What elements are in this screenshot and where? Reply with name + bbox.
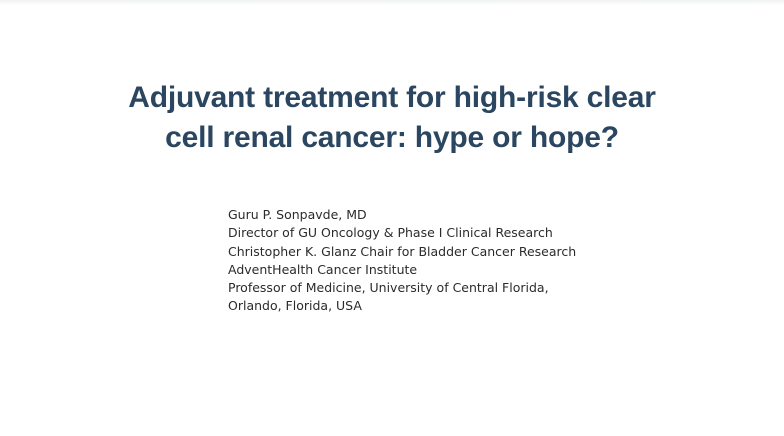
presentation-slide: Adjuvant treatment for high-risk clear c… — [0, 0, 784, 436]
slide-title-line-1: Adjuvant treatment for high-risk clear — [0, 78, 784, 118]
presenter-name: Guru P. Sonpavde, MD — [228, 206, 688, 224]
slide-title: Adjuvant treatment for high-risk clear c… — [0, 78, 784, 158]
slide-title-line-2: cell renal cancer: hype or hope? — [0, 118, 784, 158]
presenter-byline: Guru P. Sonpavde, MD Director of GU Onco… — [228, 206, 688, 316]
presenter-role: Director of GU Oncology & Phase I Clinic… — [228, 224, 688, 242]
presenter-location: Orlando, Florida, USA — [228, 297, 688, 315]
presenter-institute: AdventHealth Cancer Institute — [228, 261, 688, 279]
presenter-professorship: Professor of Medicine, University of Cen… — [228, 279, 688, 297]
slide-top-edge-shade — [0, 0, 784, 5]
presenter-chair-title: Christopher K. Glanz Chair for Bladder C… — [228, 243, 688, 261]
